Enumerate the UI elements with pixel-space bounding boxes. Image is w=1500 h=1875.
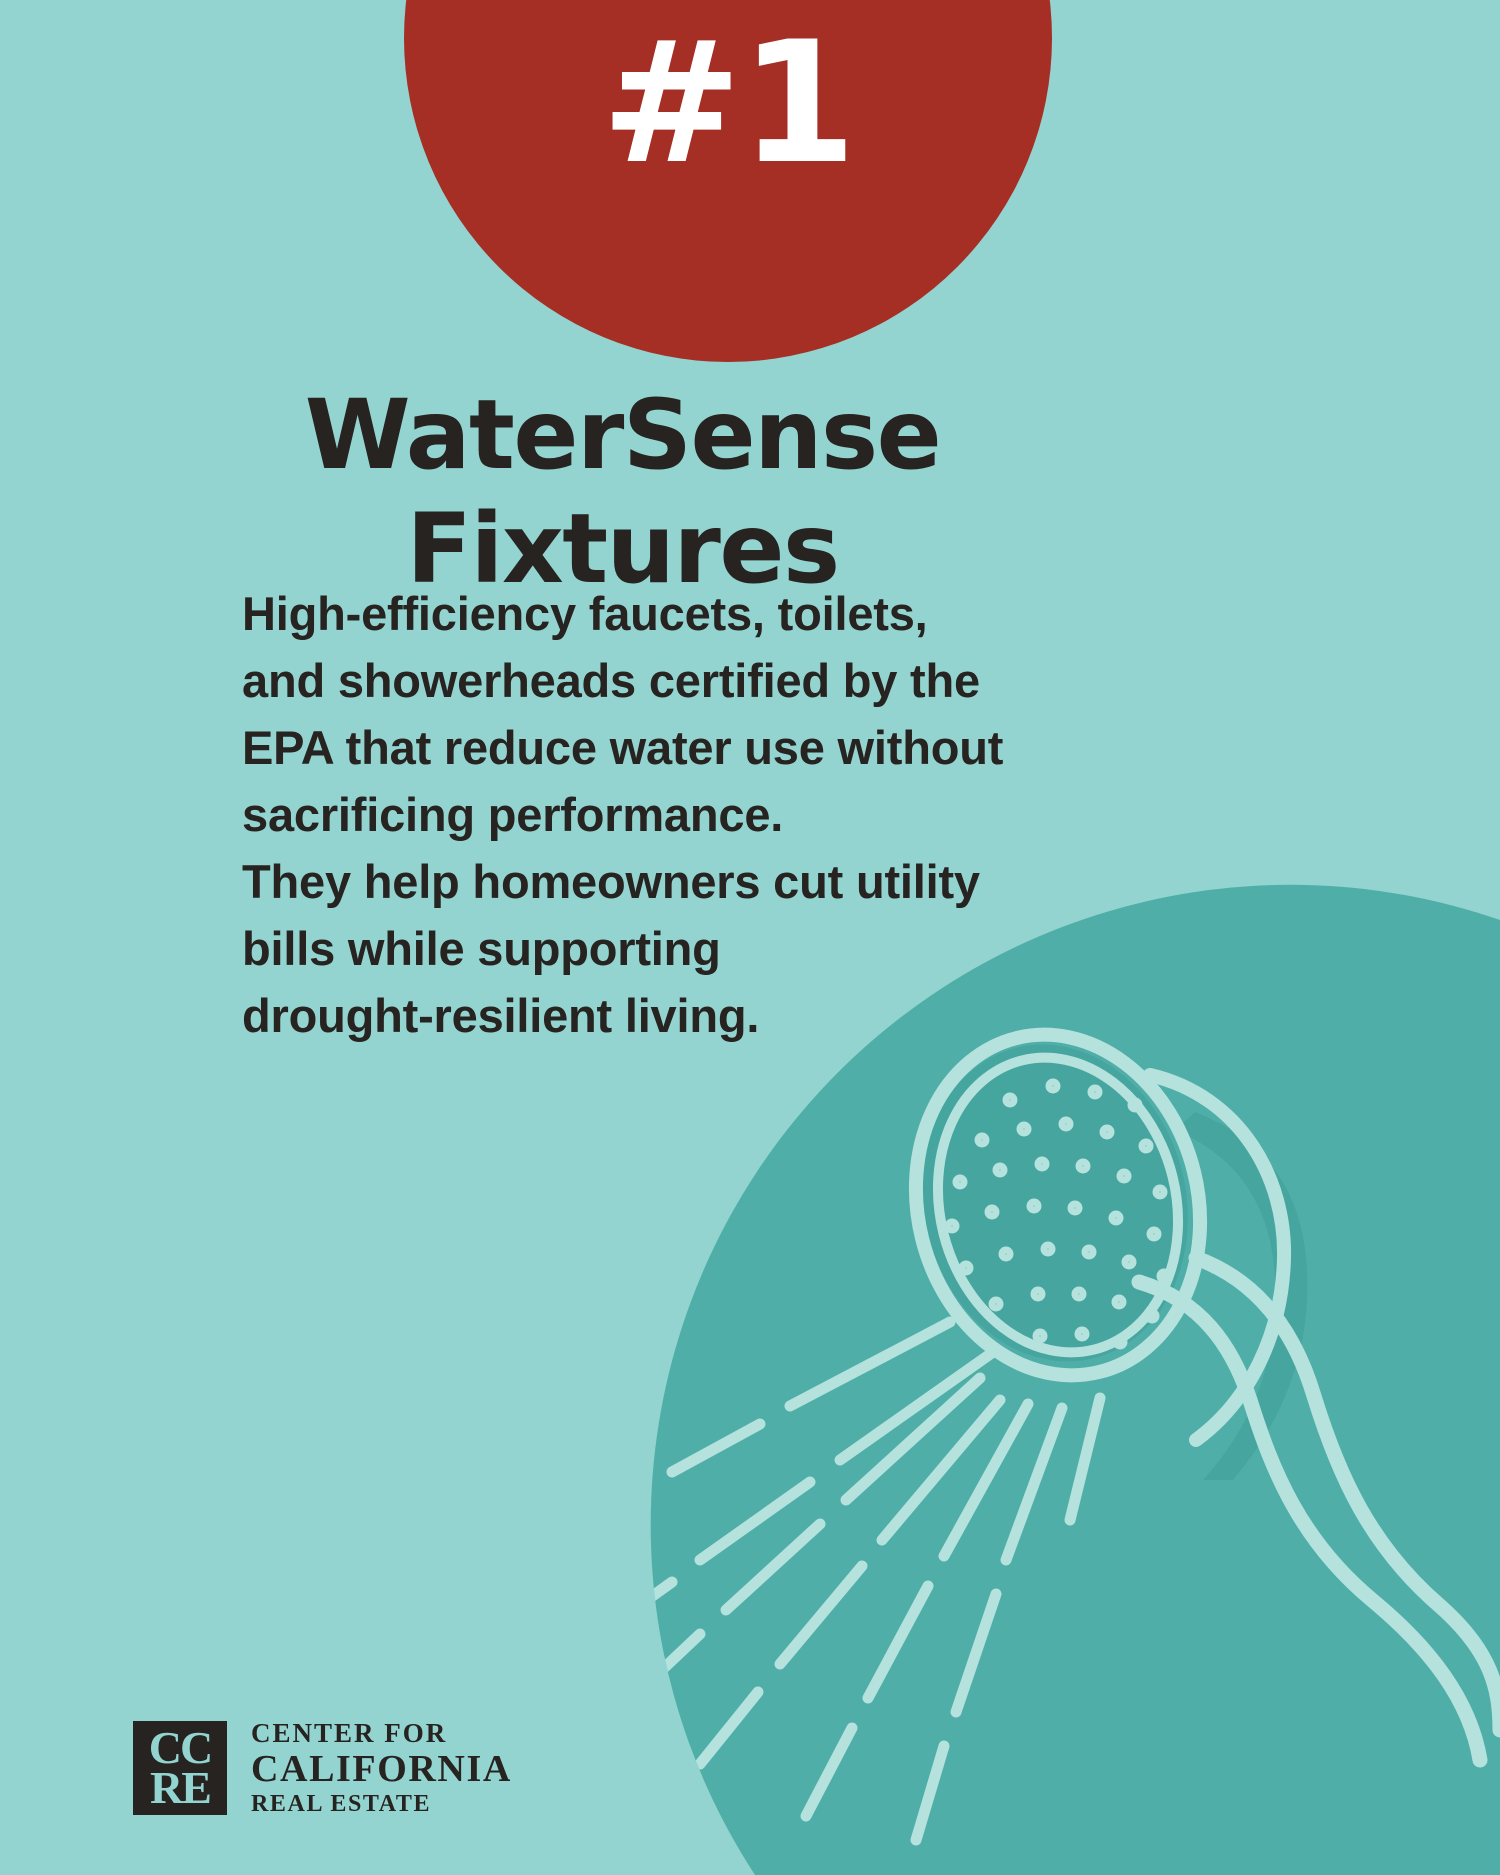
water-spray-lines (596, 1322, 1100, 1840)
body-copy-line: bills while supporting (242, 915, 1062, 982)
ccre-logo-monogram: CC RE (133, 1721, 227, 1815)
rank-badge-number: #1 (601, 19, 855, 362)
ccre-logo-monogram-line-2: RE (150, 1768, 210, 1808)
ccre-logo-mark: CC RE (133, 1721, 227, 1815)
showerhead-handle (1139, 1282, 1480, 1760)
body-copy: High-efficiency faucets, toilets, and sh… (242, 580, 1062, 1049)
page-title-line-1: WaterSense (0, 379, 1245, 492)
nozzle-holes (948, 1082, 1168, 1346)
showerhead-group (596, 1004, 1500, 1840)
showerhead-inner-ring (907, 1032, 1208, 1378)
ccre-logo-wordmark-line-3: REAL ESTATE (251, 1791, 512, 1818)
showerhead-handle-outline (1196, 1258, 1500, 1730)
body-copy-line: High-efficiency faucets, toilets, (242, 580, 1062, 647)
body-copy-line: and showerheads certified by the (242, 647, 1062, 714)
body-copy-line: They help homeowners cut utility (242, 848, 1062, 915)
ccre-logo-wordmark: CENTER FOR CALIFORNIA REAL ESTATE (251, 1718, 512, 1818)
rank-badge: #1 (404, 0, 1052, 362)
showerhead-shell-arc (1150, 1075, 1284, 1440)
body-copy-line: drought-resilient living. (242, 982, 1062, 1049)
showerhead-outer-ring (881, 1004, 1236, 1406)
poster-canvas: #1 WaterSense Fixtures High-efficiency f… (0, 0, 1500, 1875)
ccre-logo: CC RE CENTER FOR CALIFORNIA REAL ESTATE (133, 1718, 512, 1818)
ccre-logo-wordmark-line-2: CALIFORNIA (251, 1748, 512, 1791)
body-copy-line: sacrificing performance. (242, 781, 1062, 848)
page-title: WaterSense Fixtures (0, 379, 1245, 606)
showerhead-shadow (889, 1016, 1307, 1480)
ccre-logo-wordmark-line-1: CENTER FOR (251, 1718, 512, 1748)
body-copy-line: EPA that reduce water use without (242, 714, 1062, 781)
